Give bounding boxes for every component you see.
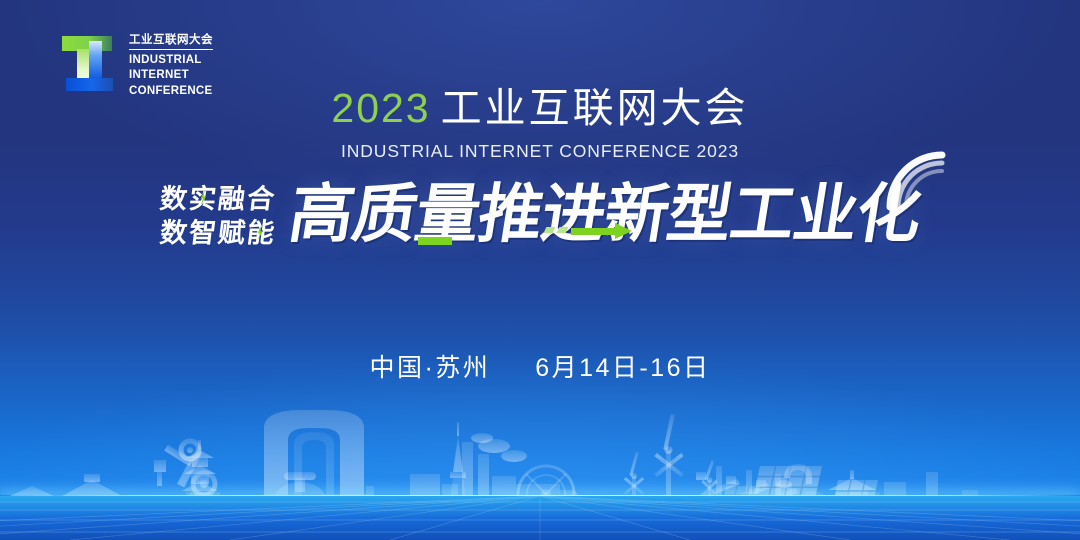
brand-en-line1: INDUSTRIAL bbox=[129, 54, 202, 66]
slogan-left-line2: 数智赋能 bbox=[158, 220, 277, 248]
dateline: 中国·苏州 6月14日-16日 bbox=[0, 348, 1080, 384]
title-block: 2023工业互联网大会 INDUSTRIAL INTERNET CONFEREN… bbox=[0, 88, 1080, 162]
headline: 高质量推进新型工业化 bbox=[290, 183, 920, 247]
title-cn: 工业互联网大会 bbox=[441, 85, 749, 131]
slogan-left: 数实融合 数智赋能 bbox=[160, 186, 276, 248]
main-title: 2023工业互联网大会 bbox=[0, 88, 1080, 129]
perspective-grid-floor bbox=[0, 496, 1080, 540]
slogan-left-line1-text: 数实融合 bbox=[158, 184, 278, 215]
title-year: 2023 bbox=[331, 85, 430, 131]
slogan-left-line1: 数实融合 bbox=[158, 186, 277, 214]
skyline-scene bbox=[0, 380, 1080, 540]
conference-logo-icon bbox=[58, 32, 118, 94]
location-text: 中国·苏州 bbox=[369, 354, 490, 382]
title-en: INDUSTRIAL INTERNET CONFERENCE 2023 bbox=[0, 141, 1080, 162]
brand-cn-name: 工业互联网大会 bbox=[129, 34, 213, 50]
conference-poster: 工业互联网大会 INDUSTRIAL INTERNET CONFERENCE 2… bbox=[0, 0, 1080, 540]
headline-text: 高质量推进新型工业化 bbox=[285, 183, 925, 247]
green-accent-bar bbox=[418, 237, 452, 245]
slogan-row: 数实融合 数智赋能 高质量推进新型工业化 bbox=[0, 182, 1080, 248]
brand-en-line2: INTERNET bbox=[129, 69, 189, 81]
date-text: 6月14日-16日 bbox=[535, 354, 710, 382]
